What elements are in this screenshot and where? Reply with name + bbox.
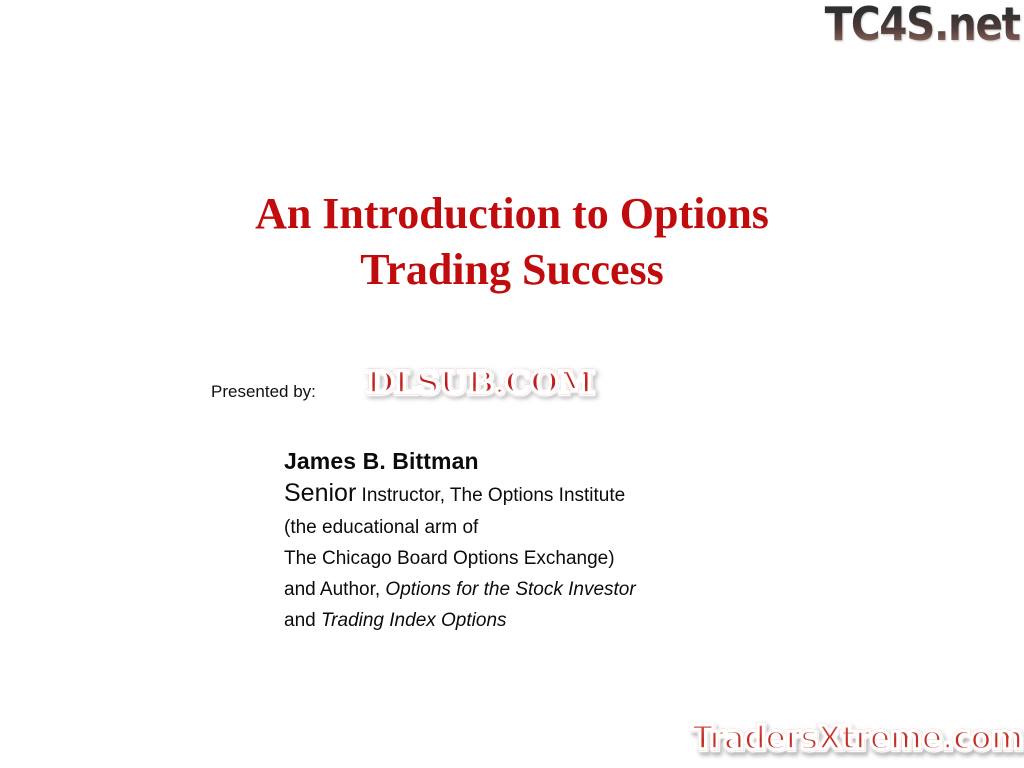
- presenter-affiliation-line-2: The Chicago Board Options Exchange): [284, 543, 636, 574]
- presenter-role-emphasis: Senior: [284, 479, 356, 507]
- watermark-tradersxtreme-com-text: TradersXtreme.com: [693, 718, 1023, 757]
- presenter-author-line-1: and Author, Options for the Stock Invest…: [284, 574, 636, 605]
- watermark-dlsub-com-text: DLSUB.COM: [366, 365, 593, 401]
- presenter-author-line-2: and Trading Index Options: [284, 605, 636, 636]
- watermark-dlsub-com: DLSUB.COM: [366, 364, 593, 402]
- presenter-role: Senior Instructor, The Options Institute: [284, 477, 636, 512]
- presenter-name: James B. Bittman: [284, 446, 636, 477]
- presented-by-label: Presented by:: [211, 381, 316, 403]
- page-title: An Introduction to Options Trading Succe…: [0, 186, 1024, 298]
- presenter-affiliation-line-1: (the educational arm of: [284, 512, 636, 543]
- slide-canvas: TC4S.net An Introduction to Options Trad…: [0, 0, 1024, 768]
- watermark-tradersxtreme-com: TradersXtreme.com: [693, 718, 1023, 758]
- presenter-block: James B. Bittman Senior Instructor, The …: [284, 446, 636, 636]
- title-line-1: An Introduction to Options: [0, 186, 1024, 242]
- author-prefix: and Author,: [284, 579, 385, 600]
- presenter-role-rest: Instructor, The Options Institute: [362, 485, 626, 506]
- book2-prefix: and: [284, 610, 321, 631]
- book-title-2: Trading Index Options: [321, 610, 507, 631]
- title-line-2: Trading Success: [0, 242, 1024, 298]
- book-title-1: Options for the Stock Investor: [385, 579, 635, 600]
- watermark-tc4s-net: TC4S.net: [825, 0, 1020, 50]
